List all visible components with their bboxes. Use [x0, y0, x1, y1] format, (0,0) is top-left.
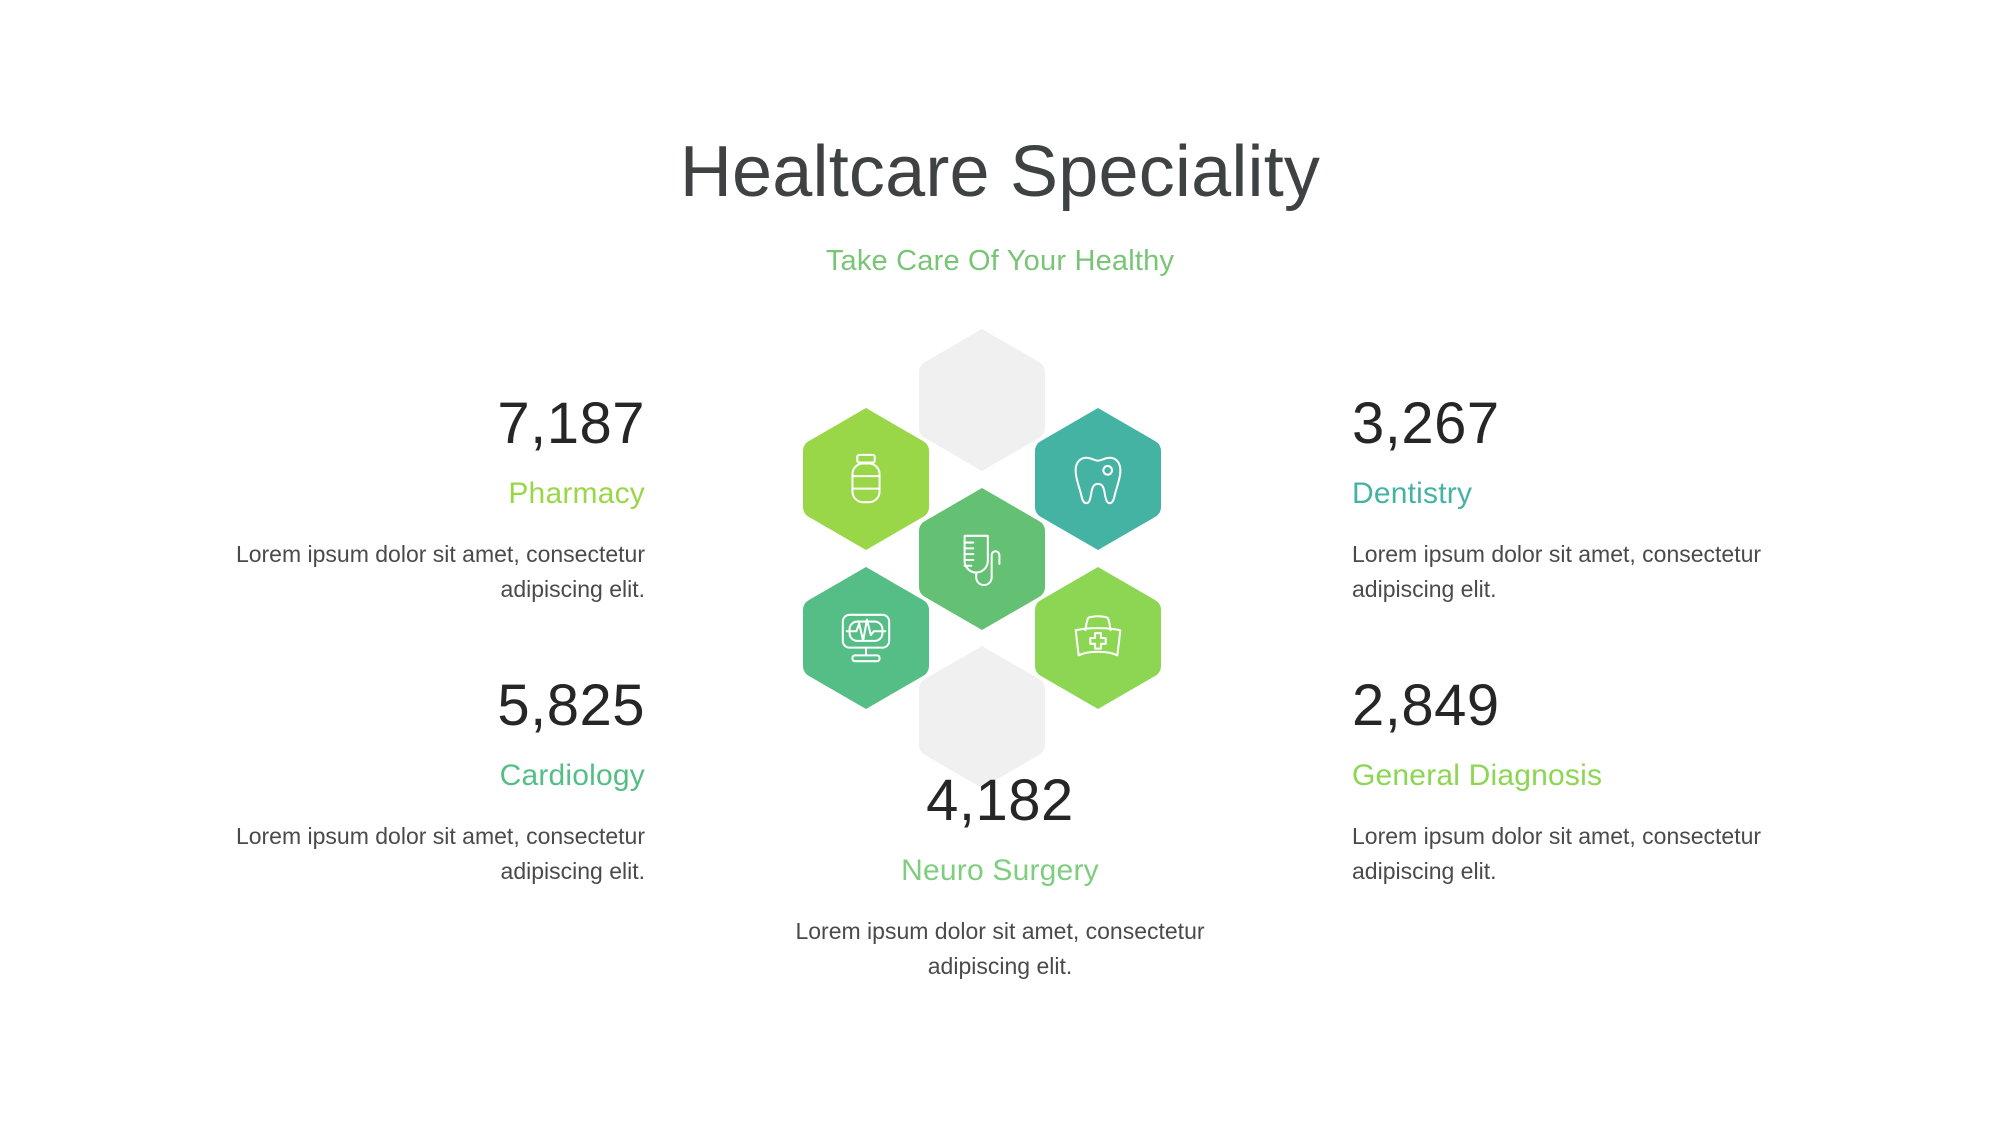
nurse-cap-icon: [1032, 564, 1164, 712]
stat-value-cardiology: 5,825: [225, 677, 645, 735]
stat-description-neuro-surgery: Lorem ipsum dolor sit amet, consectetur …: [750, 914, 1250, 984]
stat-value-pharmacy: 7,187: [225, 395, 645, 453]
stat-label-general-diagnosis: General Diagnosis: [1352, 761, 1772, 791]
stat-label-cardiology: Cardiology: [225, 761, 645, 791]
hexagon-pharmacy[interactable]: [800, 405, 932, 553]
stat-value-neuro-surgery: 4,182: [750, 772, 1250, 830]
hexagon-cardiology[interactable]: [800, 564, 932, 712]
hexagon-neuro-surgery[interactable]: [916, 485, 1048, 633]
page-subtitle: Take Care Of Your Healthy: [0, 245, 2000, 278]
stat-label-neuro-surgery: Neuro Surgery: [750, 856, 1250, 886]
stat-description-dentistry: Lorem ipsum dolor sit amet, consectetur …: [1352, 537, 1772, 607]
stat-label-pharmacy: Pharmacy: [225, 479, 645, 509]
hexagon-cluster: [800, 405, 1180, 705]
hexagon-dentistry[interactable]: [1032, 405, 1164, 553]
hexagon-placeholder-top: [916, 326, 1048, 474]
stat-block-dentistry: 3,267 Dentistry Lorem ipsum dolor sit am…: [1352, 395, 1772, 607]
slide-header: Healtcare Speciality Take Care Of Your H…: [0, 132, 2000, 278]
hexagon-general-diagnosis[interactable]: [1032, 564, 1164, 712]
stat-value-dentistry: 3,267: [1352, 395, 1772, 453]
stat-block-neuro-surgery: 4,182 Neuro Surgery Lorem ipsum dolor si…: [750, 772, 1250, 984]
stat-value-general-diagnosis: 2,849: [1352, 677, 1772, 735]
slide: Healtcare Speciality Take Care Of Your H…: [0, 0, 2000, 1125]
stat-description-general-diagnosis: Lorem ipsum dolor sit amet, consectetur …: [1352, 819, 1772, 889]
stat-description-pharmacy: Lorem ipsum dolor sit amet, consectetur …: [225, 537, 645, 607]
heart-monitor-icon: [800, 564, 932, 712]
page-title: Healtcare Speciality: [0, 132, 2000, 213]
stat-description-cardiology: Lorem ipsum dolor sit amet, consectetur …: [225, 819, 645, 889]
stat-block-pharmacy: 7,187 Pharmacy Lorem ipsum dolor sit ame…: [225, 395, 645, 607]
iv-drip-bag-icon: [916, 485, 1048, 633]
stat-label-dentistry: Dentistry: [1352, 479, 1772, 509]
stat-block-cardiology: 5,825 Cardiology Lorem ipsum dolor sit a…: [225, 677, 645, 889]
medicine-bottle-icon: [800, 405, 932, 553]
stat-block-general-diagnosis: 2,849 General Diagnosis Lorem ipsum dolo…: [1352, 677, 1772, 889]
tooth-icon: [1032, 405, 1164, 553]
